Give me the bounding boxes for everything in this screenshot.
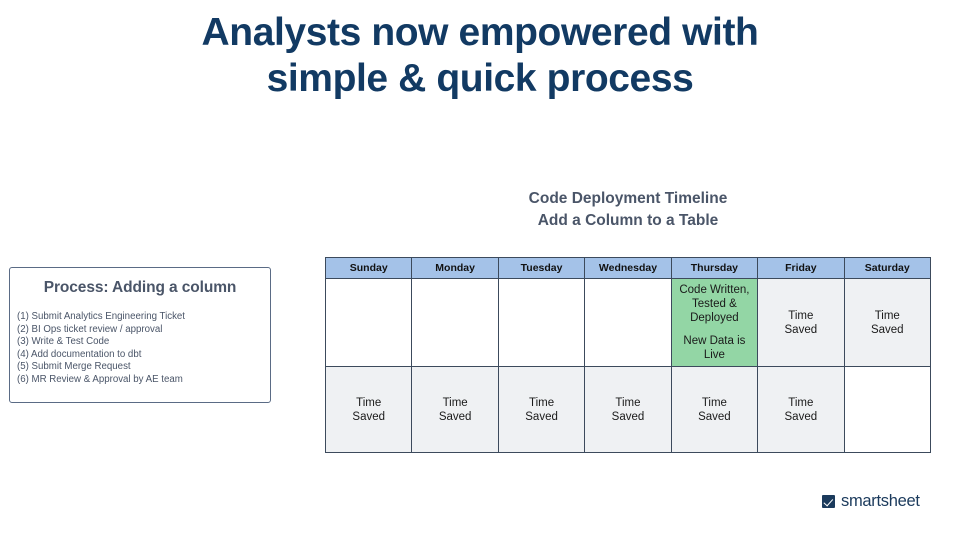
list-item: (2) BI Ops ticket review / approval — [17, 324, 270, 337]
column-header-sunday: Sunday — [326, 258, 412, 279]
cell-wednesday-saved-line-1: Time — [585, 396, 670, 410]
logo-wordmark: smartsheet — [841, 492, 920, 511]
column-header-saturday: Saturday — [844, 258, 930, 279]
cell-thursday-saved-line-2: Saved — [672, 410, 757, 424]
cell-wednesday-saved: Time Saved — [585, 367, 671, 453]
cell-thursday-line-2: Tested & — [672, 297, 757, 311]
cell-friday-line-1: Time — [758, 309, 843, 323]
process-callout-box: Process: Adding a column (1) Submit Anal… — [9, 267, 271, 403]
cell-sunday-saved: Time Saved — [326, 367, 412, 453]
process-box-title: Process: Adding a column — [10, 279, 270, 297]
column-header-thursday: Thursday — [671, 258, 757, 279]
cell-saturday-line-1: Time — [845, 309, 930, 323]
cell-monday-saved-line-1: Time — [412, 396, 497, 410]
timeline-heading-line-2: Add a Column to a Table — [325, 210, 931, 232]
table-header-row: Sunday Monday Tuesday Wednesday Thursday… — [326, 258, 931, 279]
cell-tuesday-saved-line-1: Time — [499, 396, 584, 410]
table-row: Time Saved Time Saved Time Saved Time Sa… — [326, 367, 931, 453]
cell-saturday-saved — [844, 367, 930, 453]
cell-tuesday-saved-line-2: Saved — [499, 410, 584, 424]
page-title-line-2: simple & quick process — [110, 56, 850, 102]
code-deployment-timeline-table: Sunday Monday Tuesday Wednesday Thursday… — [325, 257, 931, 453]
cell-saturday-activity: Time Saved — [844, 279, 930, 367]
column-header-monday: Monday — [412, 258, 498, 279]
cell-tuesday-saved: Time Saved — [498, 367, 584, 453]
cell-sunday-activity — [326, 279, 412, 367]
cell-friday-saved-line-1: Time — [758, 396, 843, 410]
cell-thursday-saved: Time Saved — [671, 367, 757, 453]
list-item: (1) Submit Analytics Engineering Ticket — [17, 311, 270, 324]
column-header-friday: Friday — [758, 258, 844, 279]
cell-monday-saved: Time Saved — [412, 367, 498, 453]
cell-thursday-spacer — [672, 325, 757, 334]
cell-friday-saved: Time Saved — [758, 367, 844, 453]
process-step-list: (1) Submit Analytics Engineering Ticket … — [17, 311, 270, 387]
cell-saturday-line-2: Saved — [845, 323, 930, 337]
list-item: (3) Write & Test Code — [17, 336, 270, 349]
checkbox-check-icon — [822, 495, 835, 508]
page-title: Analysts now empowered with simple & qui… — [110, 10, 850, 101]
cell-sunday-saved-line-1: Time — [326, 396, 411, 410]
cell-tuesday-activity — [498, 279, 584, 367]
cell-friday-saved-line-2: Saved — [758, 410, 843, 424]
list-item: (4) Add documentation to dbt — [17, 349, 270, 362]
cell-thursday-saved-line-1: Time — [672, 396, 757, 410]
column-header-tuesday: Tuesday — [498, 258, 584, 279]
list-item: (5) Submit Merge Request — [17, 361, 270, 374]
list-item: (6) MR Review & Approval by AE team — [17, 374, 270, 387]
timeline-heading-line-1: Code Deployment Timeline — [325, 188, 931, 210]
cell-monday-activity — [412, 279, 498, 367]
cell-thursday-activity: Code Written, Tested & Deployed New Data… — [671, 279, 757, 367]
page-title-line-1: Analysts now empowered with — [110, 10, 850, 56]
cell-wednesday-saved-line-2: Saved — [585, 410, 670, 424]
table-row: Code Written, Tested & Deployed New Data… — [326, 279, 931, 367]
cell-monday-saved-line-2: Saved — [412, 410, 497, 424]
cell-friday-line-2: Saved — [758, 323, 843, 337]
cell-thursday-line-4: New Data is — [672, 334, 757, 348]
cell-wednesday-activity — [585, 279, 671, 367]
cell-thursday-line-1: Code Written, — [672, 283, 757, 297]
timeline-heading: Code Deployment Timeline Add a Column to… — [325, 188, 931, 232]
cell-thursday-line-3: Deployed — [672, 311, 757, 325]
cell-sunday-saved-line-2: Saved — [326, 410, 411, 424]
smartsheet-logo: smartsheet — [822, 492, 920, 511]
cell-friday-activity: Time Saved — [758, 279, 844, 367]
column-header-wednesday: Wednesday — [585, 258, 671, 279]
cell-thursday-line-5: Live — [672, 348, 757, 362]
